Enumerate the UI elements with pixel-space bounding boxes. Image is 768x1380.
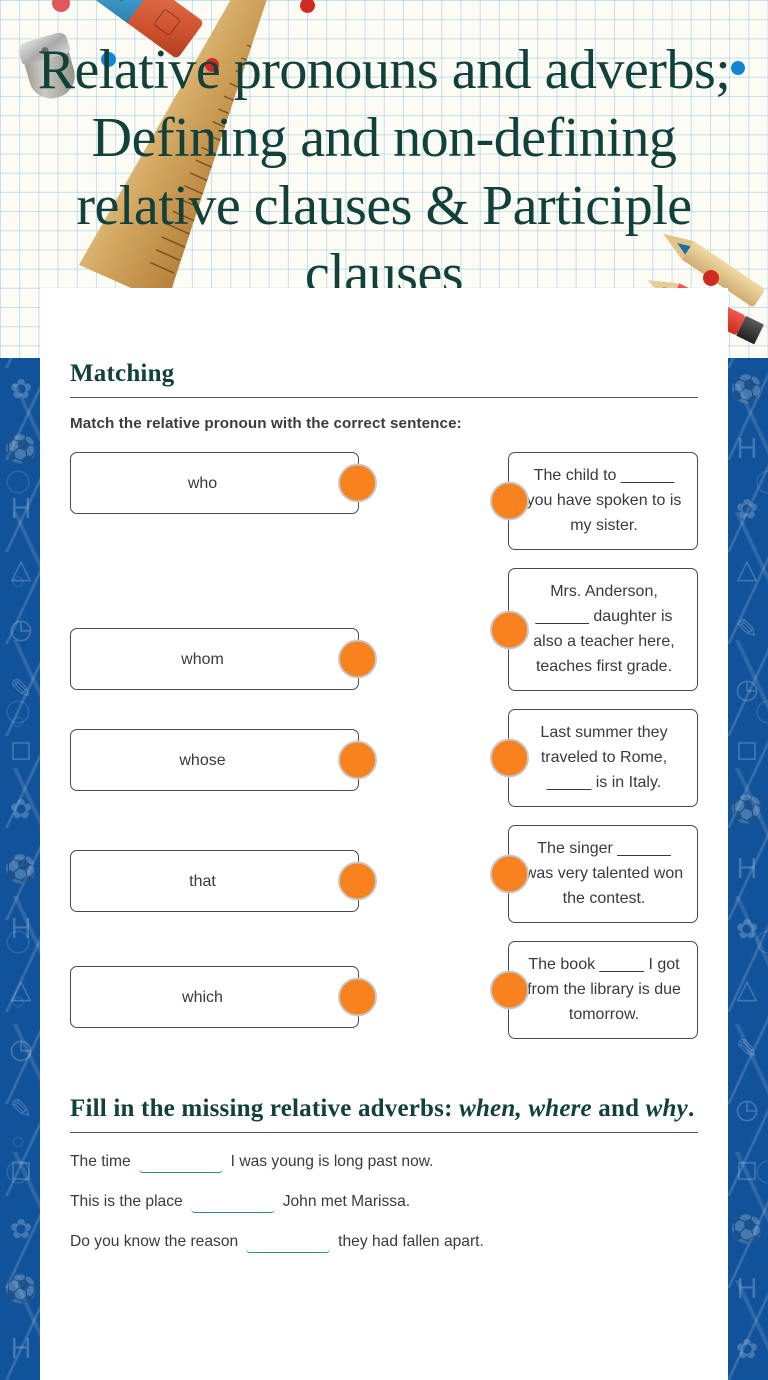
worksheet-sheet: Matching Match the relative pronoun with… (40, 288, 728, 1380)
matching-instruction: Match the relative pronoun with the corr… (70, 415, 698, 432)
sentence-card-3[interactable]: Last summer they traveled to Rome, _____… (508, 709, 698, 807)
fill-in-heading-plain: Fill in the missing relative adverbs: (70, 1095, 459, 1122)
connector-knob[interactable] (338, 741, 377, 780)
pronoun-card-who[interactable]: who (70, 452, 359, 514)
fill-in-line-after: John met Marissa. (283, 1191, 410, 1213)
fill-in-heading-plain-2: and (592, 1095, 646, 1122)
sentence-card-text: Mrs. Anderson, ______ daughter is also a… (533, 583, 674, 675)
fill-in-blank-2[interactable] (191, 1192, 275, 1213)
connector-knob[interactable] (490, 855, 529, 894)
pronoun-card-whom[interactable]: whom (70, 628, 359, 690)
fill-in-line-before: The time (70, 1151, 131, 1173)
connector-knob[interactable] (490, 610, 529, 649)
fill-in-line: Do you know the reason they had fallen a… (70, 1231, 698, 1253)
matching-section-heading: Matching (70, 360, 698, 398)
fill-in-line-after: they had fallen apart. (338, 1231, 484, 1253)
fill-in-line-after: I was young is long past now. (231, 1151, 434, 1173)
fill-in-heading: Fill in the missing relative adverbs: wh… (70, 1095, 698, 1133)
pronoun-card-label: whose (179, 748, 225, 773)
connector-knob[interactable] (490, 971, 529, 1010)
matching-row: whose Last summer they traveled to Rome,… (70, 709, 698, 807)
matching-row: which The book _____ I got from the libr… (70, 941, 698, 1039)
pronoun-card-label: that (189, 869, 216, 894)
sentence-card-4[interactable]: The singer ______ was very talented won … (508, 825, 698, 923)
fill-in-line-before: Do you know the reason (70, 1231, 238, 1253)
sentence-card-text: The child to ______ you have spoken to i… (527, 467, 682, 534)
matching-grid: who The child to ______ you have spoken … (70, 452, 698, 1039)
fill-in-blank-3[interactable] (246, 1232, 330, 1253)
fill-in-heading-end: . (688, 1095, 694, 1122)
matching-row: whom Mrs. Anderson, ______ daughter is a… (70, 568, 698, 691)
confetti-dot (52, 0, 70, 12)
connector-knob[interactable] (490, 739, 529, 778)
sentence-card-text: The singer ______ was very talented won … (525, 840, 683, 907)
fill-in-line: This is the place John met Marissa. (70, 1191, 698, 1213)
sentence-card-text: The book _____ I got from the library is… (527, 956, 681, 1023)
fill-in-section: Fill in the missing relative adverbs: wh… (70, 1095, 698, 1253)
connector-knob[interactable] (490, 482, 529, 521)
sentence-card-5[interactable]: The book _____ I got from the library is… (508, 941, 698, 1039)
matching-row: that The singer ______ was very talented… (70, 825, 698, 923)
fill-in-heading-italic-2: why (646, 1095, 688, 1122)
fill-in-line-before: This is the place (70, 1191, 183, 1213)
fill-in-heading-italic-1: when, where (459, 1095, 592, 1122)
sentence-card-2[interactable]: Mrs. Anderson, ______ daughter is also a… (508, 568, 698, 691)
connector-knob[interactable] (338, 862, 377, 901)
connector-knob[interactable] (338, 464, 377, 503)
fill-in-line: The time I was young is long past now. (70, 1151, 698, 1173)
pronoun-card-which[interactable]: which (70, 966, 359, 1028)
worksheet-page: ⚽ Ｈ △ ◷ ✎ ◻ ✿ ⚽ Ｈ △ ◷ ✎ ◻ ✿ ⚽ Ｈ △ ◷ ✎ ◻ … (0, 0, 768, 1380)
pronoun-card-label: which (182, 985, 223, 1010)
sentence-card-text: Last summer they traveled to Rome, _____… (540, 724, 667, 791)
connector-knob[interactable] (338, 640, 377, 679)
page-title: Relative pronouns and adverbs; Defining … (0, 36, 768, 308)
connector-knob[interactable] (338, 978, 377, 1017)
fill-in-blank-1[interactable] (139, 1152, 223, 1173)
matching-row: who The child to ______ you have spoken … (70, 452, 698, 550)
pronoun-card-that[interactable]: that (70, 850, 359, 912)
confetti-dot (300, 0, 315, 13)
pronoun-card-whose[interactable]: whose (70, 729, 359, 791)
sentence-card-1[interactable]: The child to ______ you have spoken to i… (508, 452, 698, 550)
pronoun-card-label: who (188, 471, 217, 496)
pronoun-card-label: whom (181, 647, 224, 672)
